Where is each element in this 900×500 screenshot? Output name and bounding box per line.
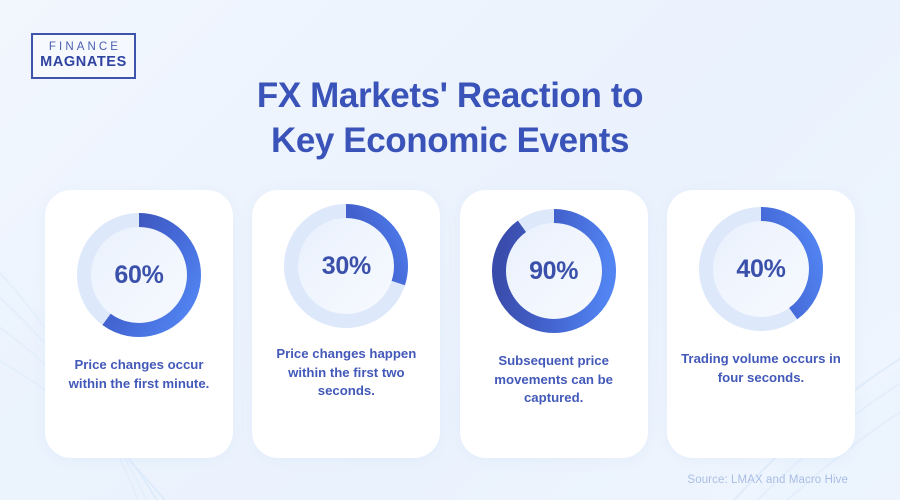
page-title: FX Markets' Reaction to Key Economic Eve…	[0, 74, 900, 164]
stat-caption-1: Price changes occur within the first min…	[45, 356, 233, 393]
stat-card: 90% Subsequent price movements can be ca…	[460, 190, 648, 458]
donut-value-2: 30%	[281, 201, 411, 331]
stat-card: 60% Price changes occur within the first…	[45, 190, 233, 458]
donut-chart-2: 30%	[281, 201, 411, 331]
page-title-line1: FX Markets' Reaction to	[0, 74, 900, 119]
stat-caption-3: Subsequent price movements can be captur…	[460, 352, 648, 408]
donut-chart-4: 40%	[696, 204, 826, 334]
brand-logo-line1: FINANCE	[46, 41, 121, 54]
brand-logo[interactable]: FINANCE MAGNATES	[31, 33, 136, 79]
page-title-line2: Key Economic Events	[0, 119, 900, 164]
stat-card-row: 60% Price changes occur within the first…	[45, 190, 855, 458]
source-note: Source: LMAX and Macro Hive	[687, 474, 848, 486]
stat-card: 30% Price changes happen within the firs…	[252, 190, 440, 458]
donut-value-1: 60%	[74, 210, 204, 340]
stat-caption-4: Trading volume occurs in four seconds.	[667, 350, 855, 387]
donut-chart-3: 90%	[489, 206, 619, 336]
brand-logo-line2: MAGNATES	[40, 54, 127, 71]
infographic-canvas: FINANCE MAGNATES FX Markets' Reaction to…	[0, 0, 900, 500]
stat-caption-2: Price changes happen within the first tw…	[252, 345, 440, 401]
donut-value-4: 40%	[696, 204, 826, 334]
donut-chart-1: 60%	[74, 210, 204, 340]
donut-value-3: 90%	[489, 206, 619, 336]
stat-card: 40% Trading volume occurs in four second…	[667, 190, 855, 458]
